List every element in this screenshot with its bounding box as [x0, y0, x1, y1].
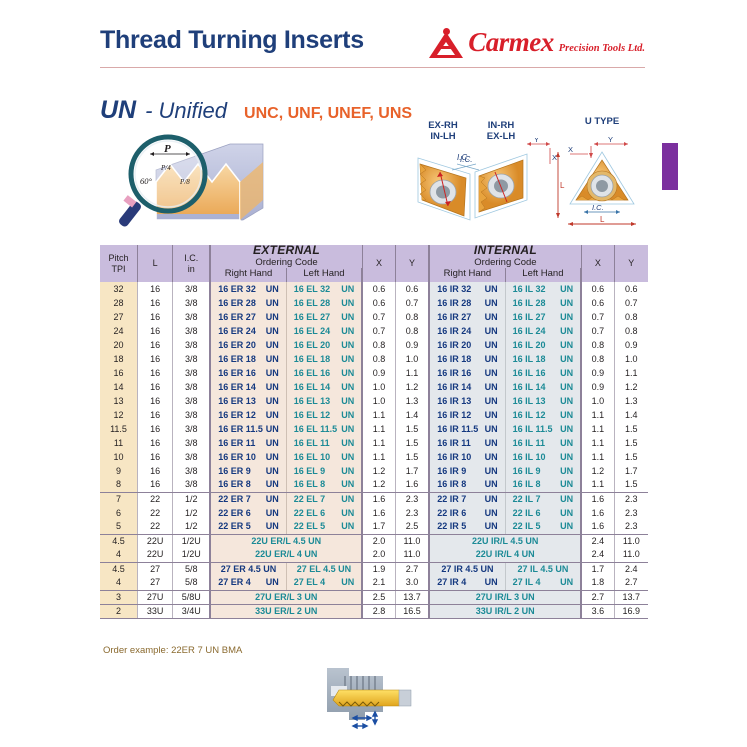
cell-external-left-hand: 16 EL 28UN [286, 296, 362, 310]
cell-ic: 3/8 [173, 352, 211, 366]
cell-pitch-tpi: 4 [100, 576, 138, 590]
cell-l: 16 [138, 464, 173, 478]
cell-external-y: 11.0 [395, 534, 429, 548]
cell-external-x: 1.1 [362, 422, 395, 436]
table-row: 8163/816 ER 8UN16 EL 8UN1.21.616 IR 8UN1… [100, 478, 648, 492]
cell-external-left-hand: 27 EL 4.5 UN [286, 562, 362, 576]
cell-l: 22 [138, 520, 173, 534]
cell-internal-y: 1.5 [614, 422, 648, 436]
cell-external-x: 1.6 [362, 506, 395, 520]
cell-internal-right-hand: 27 IR 4UN [429, 576, 505, 590]
cell-internal-x: 0.9 [581, 366, 614, 380]
cell-internal-right-hand: 16 IR 11.5UN [429, 422, 505, 436]
header-ic: I.C. in [173, 245, 211, 282]
cell-internal-x: 1.1 [581, 408, 614, 422]
cell-external-right-hand: 16 ER 8UN [210, 478, 286, 492]
cell-internal-right-hand: 16 IR 18UN [429, 352, 505, 366]
cell-internal-code-merged: 33U IR/L 2 UN [429, 604, 581, 618]
cell-pitch-tpi: 13 [100, 394, 138, 408]
cell-external-code-merged: 33U ER/L 2 UN [210, 604, 362, 618]
cell-internal-right-hand: 16 IR 27UN [429, 310, 505, 324]
cell-external-left-hand: 16 EL 10UN [286, 450, 362, 464]
cell-external-right-hand: 16 ER 32UN [210, 282, 286, 296]
cell-external-left-hand: 22 EL 7UN [286, 492, 362, 506]
cell-internal-y: 11.0 [614, 548, 648, 562]
thread-series-list: UNC, UNF, UNEF, UNS [244, 105, 412, 123]
cell-external-x: 1.6 [362, 492, 395, 506]
cell-internal-y: 2.7 [614, 576, 648, 590]
cell-internal-y: 0.6 [614, 282, 648, 296]
header-external-y: Y [395, 245, 429, 282]
cell-external-x: 1.9 [362, 562, 395, 576]
cell-internal-right-hand: 16 IR 28UN [429, 296, 505, 310]
specification-table: Pitch TPI L I.C. in EXTERNAL X Y INTERNA… [100, 245, 648, 619]
cell-external-x: 2.1 [362, 576, 395, 590]
cell-internal-y: 1.2 [614, 380, 648, 394]
header-external: EXTERNAL [210, 245, 362, 257]
thread-profile-illustration: P P/4 P/8 60° [98, 122, 328, 237]
thread-standard-name: - Unified [145, 98, 227, 124]
table-body: 32163/816 ER 32UN16 EL 32UN0.60.616 IR 3… [100, 282, 648, 618]
cell-ic: 3/8 [173, 366, 211, 380]
cell-ic: 3/8 [173, 450, 211, 464]
cell-internal-x: 0.7 [581, 324, 614, 338]
cell-external-y: 1.3 [395, 394, 429, 408]
cell-l: 22U [138, 548, 173, 562]
cell-ic: 5/8U [173, 590, 211, 604]
cell-external-x: 2.0 [362, 534, 395, 548]
cell-internal-code-merged: 22U IR/L 4 UN [429, 548, 581, 562]
cell-l: 16 [138, 324, 173, 338]
cell-ic: 3/8 [173, 282, 211, 296]
cell-pitch-tpi: 14 [100, 380, 138, 394]
cell-external-y: 1.1 [395, 366, 429, 380]
cell-internal-y: 0.7 [614, 296, 648, 310]
cell-ic: 3/8 [173, 436, 211, 450]
cell-external-right-hand: 16 ER 12UN [210, 408, 286, 422]
insert-u-diagram: X Y I.C. L [558, 132, 658, 232]
cell-external-right-hand: 16 ER 10UN [210, 450, 286, 464]
svg-text:P: P [164, 143, 171, 155]
cell-l: 27U [138, 590, 173, 604]
cell-external-right-hand: 16 ER 13UN [210, 394, 286, 408]
cell-external-code-merged: 22U ER/L 4.5 UN [210, 534, 362, 548]
svg-text:X: X [552, 153, 557, 162]
cell-external-x: 0.7 [362, 310, 395, 324]
cell-external-y: 1.7 [395, 464, 429, 478]
cell-external-x: 0.6 [362, 282, 395, 296]
cell-external-right-hand: 16 ER 27UN [210, 310, 286, 324]
svg-text:60°: 60° [140, 176, 153, 186]
cell-external-y: 1.5 [395, 450, 429, 464]
threading-tool-illustration [305, 662, 435, 747]
svg-text:Y: Y [534, 138, 539, 144]
thread-standard-code: UN [100, 96, 136, 125]
cell-ic: 5/8 [173, 562, 211, 576]
cell-pitch-tpi: 11.5 [100, 422, 138, 436]
cell-pitch-tpi: 28 [100, 296, 138, 310]
cell-external-left-hand: 16 EL 27UN [286, 310, 362, 324]
cell-internal-right-hand: 16 IR 13UN [429, 394, 505, 408]
cell-pitch-tpi: 24 [100, 324, 138, 338]
cell-internal-x: 2.4 [581, 548, 614, 562]
cell-external-x: 0.8 [362, 352, 395, 366]
cell-pitch-tpi: 27 [100, 310, 138, 324]
cell-internal-right-hand: 16 IR 32UN [429, 282, 505, 296]
cell-l: 16 [138, 380, 173, 394]
svg-text:P/8: P/8 [179, 178, 190, 186]
cell-internal-y: 1.5 [614, 478, 648, 492]
table-row: 27163/816 ER 27UN16 EL 27UN0.70.816 IR 2… [100, 310, 648, 324]
cell-l: 16 [138, 478, 173, 492]
cell-ic: 1/2U [173, 534, 211, 548]
cell-internal-left-hand: 16 IL 20UN [505, 338, 581, 352]
cell-l: 16 [138, 296, 173, 310]
cell-internal-x: 2.7 [581, 590, 614, 604]
table-row: 13163/816 ER 13UN16 EL 13UN1.01.316 IR 1… [100, 394, 648, 408]
cell-l: 16 [138, 408, 173, 422]
cell-pitch-tpi: 4.5 [100, 562, 138, 576]
cell-l: 16 [138, 352, 173, 366]
table-row: 422U1/2U22U ER/L 4 UN2.011.022U IR/L 4 U… [100, 548, 648, 562]
header-internal: INTERNAL [429, 245, 581, 257]
cell-internal-right-hand: 16 IR 9UN [429, 464, 505, 478]
cell-internal-x: 1.8 [581, 576, 614, 590]
brand-tagline: Precision Tools Ltd. [559, 43, 645, 54]
cell-external-x: 1.7 [362, 520, 395, 534]
cell-pitch-tpi: 9 [100, 464, 138, 478]
cell-external-y: 1.4 [395, 408, 429, 422]
cell-internal-right-hand: 16 IR 16UN [429, 366, 505, 380]
cell-external-x: 0.8 [362, 338, 395, 352]
page-header: Thread Turning Inserts Carmex Precision … [100, 22, 645, 68]
cell-ic: 3/8 [173, 478, 211, 492]
cell-external-y: 1.5 [395, 422, 429, 436]
cell-internal-right-hand: 27 IR 4.5 UN [429, 562, 505, 576]
svg-text:I.C.: I.C. [592, 203, 604, 212]
cell-external-x: 2.0 [362, 548, 395, 562]
cell-external-left-hand: 16 EL 32UN [286, 282, 362, 296]
cell-internal-right-hand: 22 IR 6UN [429, 506, 505, 520]
cell-external-left-hand: 16 EL 12UN [286, 408, 362, 422]
page-edge-tab [662, 143, 678, 190]
table-row: 11.5163/816 ER 11.5UN16 EL 11.5UN1.11.51… [100, 422, 648, 436]
cell-external-left-hand: 16 EL 18UN [286, 352, 362, 366]
cell-pitch-tpi: 5 [100, 520, 138, 534]
cell-l: 16 [138, 394, 173, 408]
cell-ic: 3/8 [173, 324, 211, 338]
cell-internal-x: 0.6 [581, 282, 614, 296]
cell-pitch-tpi: 2 [100, 604, 138, 618]
cell-external-x: 1.1 [362, 450, 395, 464]
cell-external-right-hand: 16 ER 9UN [210, 464, 286, 478]
cell-external-right-hand: 22 ER 6UN [210, 506, 286, 520]
cell-external-right-hand: 16 ER 20UN [210, 338, 286, 352]
cell-internal-right-hand: 16 IR 12UN [429, 408, 505, 422]
cell-internal-code-merged: 22U IR/L 4.5 UN [429, 534, 581, 548]
cell-external-y: 1.0 [395, 352, 429, 366]
cell-internal-right-hand: 16 IR 14UN [429, 380, 505, 394]
cell-ic: 3/8 [173, 338, 211, 352]
cell-external-x: 1.1 [362, 436, 395, 450]
cell-internal-y: 2.3 [614, 520, 648, 534]
table-row: 4.522U1/2U22U ER/L 4.5 UN2.011.022U IR/L… [100, 534, 648, 548]
table-row: 4.5275/827 ER 4.5 UN27 EL 4.5 UN1.92.727… [100, 562, 648, 576]
cell-internal-y: 1.3 [614, 394, 648, 408]
cell-pitch-tpi: 4.5 [100, 534, 138, 548]
cell-external-right-hand: 16 ER 14UN [210, 380, 286, 394]
cell-internal-x: 2.4 [581, 534, 614, 548]
cell-pitch-tpi: 11 [100, 436, 138, 450]
cell-internal-left-hand: 27 IL 4UN [505, 576, 581, 590]
cell-internal-y: 2.3 [614, 492, 648, 506]
brand-name: Carmex [468, 27, 554, 58]
cell-external-y: 2.5 [395, 520, 429, 534]
cell-l: 16 [138, 436, 173, 450]
cell-internal-left-hand: 16 IL 24UN [505, 324, 581, 338]
cell-pitch-tpi: 12 [100, 408, 138, 422]
cell-internal-y: 13.7 [614, 590, 648, 604]
cell-internal-y: 1.5 [614, 450, 648, 464]
cell-internal-left-hand: 22 IL 5UN [505, 520, 581, 534]
cell-pitch-tpi: 32 [100, 282, 138, 296]
cell-pitch-tpi: 10 [100, 450, 138, 464]
cell-external-left-hand: 22 EL 6UN [286, 506, 362, 520]
cell-internal-right-hand: 22 IR 7UN [429, 492, 505, 506]
cell-internal-left-hand: 22 IL 6UN [505, 506, 581, 520]
header-internal-ordering-code: Ordering Code [429, 257, 581, 268]
cell-internal-x: 1.6 [581, 506, 614, 520]
cell-internal-y: 2.3 [614, 506, 648, 520]
cell-pitch-tpi: 18 [100, 352, 138, 366]
cell-internal-x: 1.1 [581, 478, 614, 492]
cell-internal-y: 0.8 [614, 324, 648, 338]
cell-external-code-merged: 22U ER/L 4 UN [210, 548, 362, 562]
cell-internal-y: 1.1 [614, 366, 648, 380]
cell-external-y: 13.7 [395, 590, 429, 604]
cell-external-y: 1.5 [395, 436, 429, 450]
cell-external-y: 0.6 [395, 282, 429, 296]
table-row: 10163/816 ER 10UN16 EL 10UN1.11.516 IR 1… [100, 450, 648, 464]
cell-internal-y: 1.7 [614, 464, 648, 478]
cell-pitch-tpi: 7 [100, 492, 138, 506]
cell-internal-x: 1.1 [581, 422, 614, 436]
cell-internal-x: 1.2 [581, 464, 614, 478]
table-row: 20163/816 ER 20UN16 EL 20UN0.80.916 IR 2… [100, 338, 648, 352]
cell-external-left-hand: 16 EL 14UN [286, 380, 362, 394]
cell-external-right-hand: 16 ER 16UN [210, 366, 286, 380]
cell-ic: 1/2 [173, 492, 211, 506]
cell-external-x: 0.7 [362, 324, 395, 338]
cell-internal-left-hand: 16 IL 14UN [505, 380, 581, 394]
cell-external-y: 0.9 [395, 338, 429, 352]
cell-external-right-hand: 27 ER 4UN [210, 576, 286, 590]
cell-external-y: 3.0 [395, 576, 429, 590]
cell-external-right-hand: 16 ER 28UN [210, 296, 286, 310]
cell-external-y: 2.3 [395, 492, 429, 506]
table-row: 4275/827 ER 4UN27 EL 4UN2.13.027 IR 4UN2… [100, 576, 648, 590]
cell-internal-y: 16.9 [614, 604, 648, 618]
cell-external-x: 1.2 [362, 464, 395, 478]
cell-external-y: 0.8 [395, 310, 429, 324]
table-row: 14163/816 ER 14UN16 EL 14UN1.01.216 IR 1… [100, 380, 648, 394]
cell-pitch-tpi: 20 [100, 338, 138, 352]
cell-external-x: 1.0 [362, 394, 395, 408]
svg-text:X: X [568, 145, 573, 154]
cell-internal-right-hand: 22 IR 5UN [429, 520, 505, 534]
cell-external-y: 2.7 [395, 562, 429, 576]
cell-internal-left-hand: 16 IL 27UN [505, 310, 581, 324]
cell-l: 22 [138, 492, 173, 506]
cell-external-right-hand: 16 ER 18UN [210, 352, 286, 366]
cell-pitch-tpi: 8 [100, 478, 138, 492]
svg-text:P/4: P/4 [160, 164, 171, 172]
header-external-ordering-code: Ordering Code [210, 257, 362, 268]
cell-internal-x: 0.7 [581, 310, 614, 324]
cell-pitch-tpi: 6 [100, 506, 138, 520]
cell-external-left-hand: 16 EL 20UN [286, 338, 362, 352]
cell-internal-x: 1.7 [581, 562, 614, 576]
cell-internal-left-hand: 16 IL 8UN [505, 478, 581, 492]
cell-internal-left-hand: 27 IL 4.5 UN [505, 562, 581, 576]
header-internal-left-hand: Left Hand [505, 268, 581, 282]
cell-external-right-hand: 22 ER 5UN [210, 520, 286, 534]
svg-text:L: L [600, 215, 605, 224]
cell-external-right-hand: 16 ER 11.5UN [210, 422, 286, 436]
cell-external-left-hand: 16 EL 9UN [286, 464, 362, 478]
cell-external-y: 0.8 [395, 324, 429, 338]
cell-ic: 3/8 [173, 464, 211, 478]
header-internal-y: Y [614, 245, 648, 282]
header-external-x: X [362, 245, 395, 282]
cell-external-x: 1.1 [362, 408, 395, 422]
header-divider [100, 67, 645, 68]
cell-l: 27 [138, 562, 173, 576]
cell-l: 33U [138, 604, 173, 618]
cell-external-y: 0.7 [395, 296, 429, 310]
cell-external-left-hand: 22 EL 5UN [286, 520, 362, 534]
table-row: 5221/222 ER 5UN22 EL 5UN1.72.522 IR 5UN2… [100, 520, 648, 534]
table-row: 327U5/8U27U ER/L 3 UN2.513.727U IR/L 3 U… [100, 590, 648, 604]
cell-l: 22U [138, 534, 173, 548]
cell-external-x: 1.2 [362, 478, 395, 492]
svg-text:I.C.: I.C. [457, 153, 469, 162]
cell-pitch-tpi: 4 [100, 548, 138, 562]
cell-internal-y: 1.4 [614, 408, 648, 422]
cell-internal-left-hand: 16 IL 16UN [505, 366, 581, 380]
cell-external-left-hand: 16 EL 24UN [286, 324, 362, 338]
cell-internal-y: 1.0 [614, 352, 648, 366]
cell-internal-x: 3.6 [581, 604, 614, 618]
cell-internal-right-hand: 16 IR 10UN [429, 450, 505, 464]
cell-l: 16 [138, 422, 173, 436]
cell-ic: 5/8 [173, 576, 211, 590]
cell-internal-x: 0.8 [581, 338, 614, 352]
table-row: 16163/816 ER 16UN16 EL 16UN0.91.116 IR 1… [100, 366, 648, 380]
cell-ic: 3/8 [173, 394, 211, 408]
table-row: 18163/816 ER 18UN16 EL 18UN0.81.016 IR 1… [100, 352, 648, 366]
cell-external-x: 0.9 [362, 366, 395, 380]
cell-external-code-merged: 27U ER/L 3 UN [210, 590, 362, 604]
cell-external-left-hand: 16 EL 13UN [286, 394, 362, 408]
cell-internal-left-hand: 16 IL 32UN [505, 282, 581, 296]
svg-text:Y: Y [608, 135, 613, 144]
cell-internal-code-merged: 27U IR/L 3 UN [429, 590, 581, 604]
cell-external-x: 0.6 [362, 296, 395, 310]
table-row: 12163/816 ER 12UN16 EL 12UN1.11.416 IR 1… [100, 408, 648, 422]
carmex-triangle-icon [429, 28, 463, 58]
cell-internal-x: 1.6 [581, 520, 614, 534]
cell-internal-right-hand: 16 IR 20UN [429, 338, 505, 352]
cell-ic: 3/8 [173, 310, 211, 324]
cell-internal-left-hand: 16 IL 28UN [505, 296, 581, 310]
cell-external-left-hand: 16 EL 8UN [286, 478, 362, 492]
cell-internal-left-hand: 22 IL 7UN [505, 492, 581, 506]
table-row: 28163/816 ER 28UN16 EL 28UN0.60.716 IR 2… [100, 296, 648, 310]
cell-l: 16 [138, 450, 173, 464]
cell-external-x: 2.8 [362, 604, 395, 618]
cell-external-left-hand: 16 EL 11UN [286, 436, 362, 450]
cell-external-y: 11.0 [395, 548, 429, 562]
subtitle: UN - Unified UNC, UNF, UNEF, UNS [100, 96, 412, 125]
cell-internal-left-hand: 16 IL 11UN [505, 436, 581, 450]
cell-internal-x: 1.0 [581, 394, 614, 408]
cell-internal-left-hand: 16 IL 11.5UN [505, 422, 581, 436]
cell-pitch-tpi: 16 [100, 366, 138, 380]
cell-internal-right-hand: 16 IR 11UN [429, 436, 505, 450]
cell-internal-left-hand: 16 IL 9UN [505, 464, 581, 478]
cell-ic: 3/8 [173, 422, 211, 436]
table-row: 233U3/4U33U ER/L 2 UN2.816.533U IR/L 2 U… [100, 604, 648, 618]
order-example: Order example: 22ER 7 UN BMA [103, 645, 242, 656]
insert-u-label: U TYPE [562, 116, 642, 127]
cell-ic: 3/4U [173, 604, 211, 618]
cell-external-right-hand: 27 ER 4.5 UN [210, 562, 286, 576]
cell-l: 22 [138, 506, 173, 520]
cell-internal-right-hand: 16 IR 8UN [429, 478, 505, 492]
cell-external-right-hand: 22 ER 7UN [210, 492, 286, 506]
cell-external-right-hand: 16 ER 24UN [210, 324, 286, 338]
cell-l: 27 [138, 576, 173, 590]
header-internal-right-hand: Right Hand [429, 268, 505, 282]
table-row: 6221/222 ER 6UN22 EL 6UN1.62.322 IR 6UN2… [100, 506, 648, 520]
header-internal-x: X [581, 245, 614, 282]
cell-pitch-tpi: 3 [100, 590, 138, 604]
cell-l: 16 [138, 310, 173, 324]
cell-external-y: 16.5 [395, 604, 429, 618]
cell-l: 16 [138, 282, 173, 296]
cell-ic: 3/8 [173, 408, 211, 422]
cell-internal-y: 1.5 [614, 436, 648, 450]
cell-external-left-hand: 16 EL 16UN [286, 366, 362, 380]
cell-l: 16 [138, 338, 173, 352]
cell-external-x: 2.5 [362, 590, 395, 604]
header-l: L [138, 245, 173, 282]
page-title: Thread Turning Inserts [100, 26, 364, 55]
header-pitch-tpi: Pitch TPI [100, 245, 138, 282]
cell-ic: 1/2 [173, 506, 211, 520]
cell-ic: 3/8 [173, 380, 211, 394]
cell-ic: 1/2 [173, 520, 211, 534]
cell-l: 16 [138, 366, 173, 380]
cell-internal-x: 0.8 [581, 352, 614, 366]
cell-internal-y: 0.8 [614, 310, 648, 324]
table-row: 32163/816 ER 32UN16 EL 32UN0.60.616 IR 3… [100, 282, 648, 296]
cell-internal-x: 1.6 [581, 492, 614, 506]
table-row: 9163/816 ER 9UN16 EL 9UN1.21.716 IR 9UN1… [100, 464, 648, 478]
cell-ic: 1/2U [173, 548, 211, 562]
cell-internal-x: 1.1 [581, 436, 614, 450]
